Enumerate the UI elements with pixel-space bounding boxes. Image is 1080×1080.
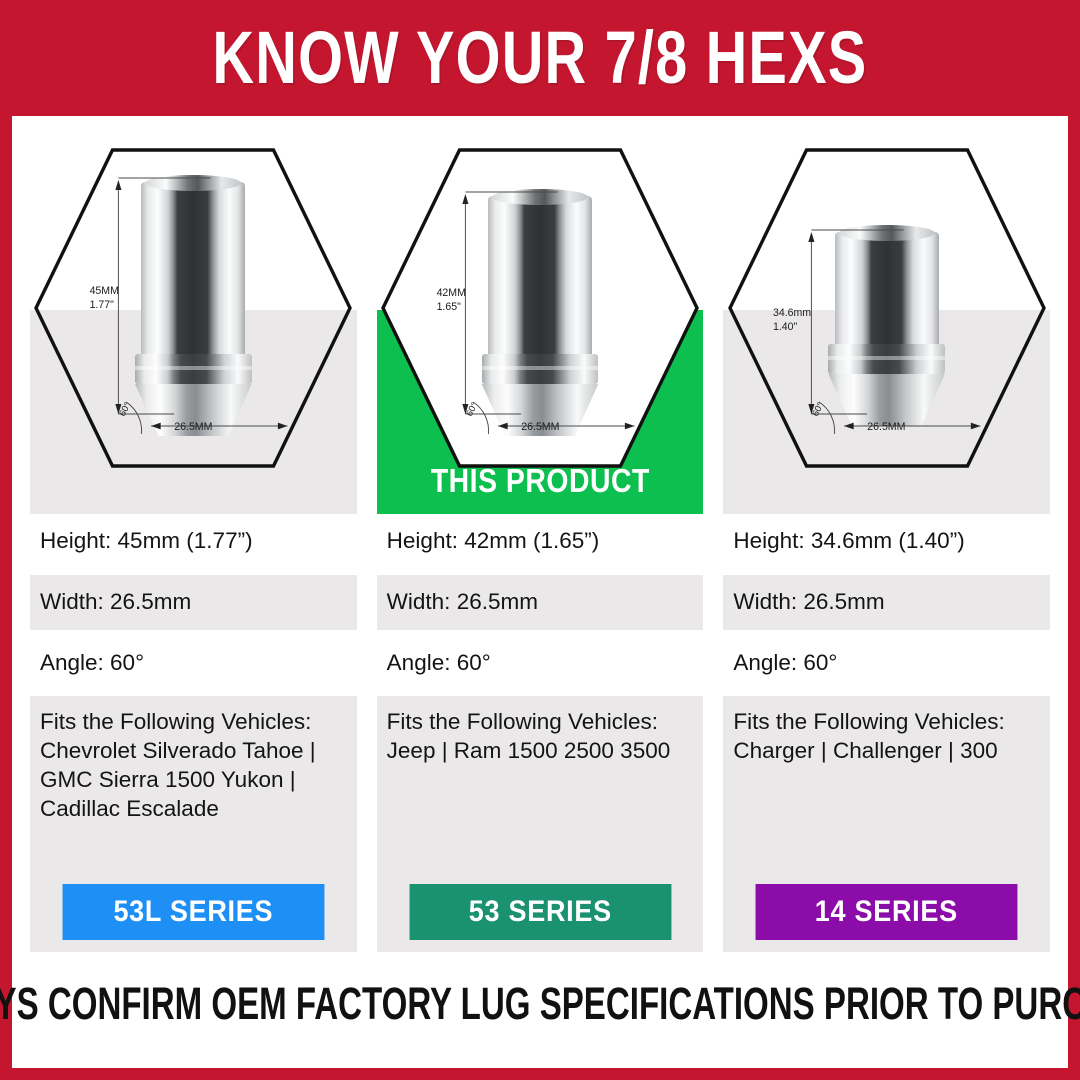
fitment-line: Charger | Challenger | 300: [733, 736, 1040, 765]
disclaimer-note: **ALWAYS CONFIRM OEM FACTORY LUG SPECIFI…: [152, 972, 928, 1036]
spec-angle: Angle: 60°: [377, 636, 704, 691]
nut-shoulder-ring: [482, 354, 598, 384]
spec-height: Height: 42mm (1.65”): [377, 514, 704, 569]
series-badge-53[interactable]: 53 SERIES: [409, 884, 671, 940]
nut-top-face: [145, 175, 241, 191]
hex-diagram-panel-highlighted: 42MM 1.65" 60° 26.5MM THIS PRODUCT: [377, 134, 704, 514]
nut-shoulder-ring: [828, 344, 944, 374]
product-column-14: 34.6mm 1.40" 60° 26.5MM Height: 34.6mm (…: [723, 134, 1050, 952]
spec-angle: Angle: 60°: [30, 636, 357, 691]
fitment-text: Fits the Following Vehicles: Charger | C…: [733, 707, 1040, 765]
hex-diagram-panel: 45MM 1.77" 60° 26.5MM: [30, 134, 357, 514]
product-column-53l: 45MM 1.77" 60° 26.5MM Height: 45mm (1.77…: [30, 134, 357, 952]
fitment-text: Fits the Following Vehicles: Jeep | Ram …: [387, 707, 694, 765]
lug-nut-illustration: [488, 196, 592, 436]
lug-nut-illustration: [141, 182, 245, 436]
spec-width: Width: 26.5mm: [377, 575, 704, 630]
nut-top-face: [839, 225, 935, 241]
content-card: 45MM 1.77" 60° 26.5MM Height: 45mm (1.77…: [12, 116, 1068, 1068]
fitment-heading: Fits the Following Vehicles:: [387, 707, 694, 736]
series-badge-53l[interactable]: 53L SERIES: [63, 884, 325, 940]
series-badge-14[interactable]: 14 SERIES: [756, 884, 1018, 940]
comparison-columns: 45MM 1.77" 60° 26.5MM Height: 45mm (1.77…: [30, 134, 1050, 952]
spec-angle: Angle: 60°: [723, 636, 1050, 691]
nut-top-face: [492, 189, 588, 205]
infographic-root: KNOW YOUR 7/8 HEXS: [0, 0, 1080, 1080]
nut-conical-seat: [828, 374, 944, 426]
lug-nut-illustration: [835, 232, 939, 426]
fitment-heading: Fits the Following Vehicles:: [40, 707, 347, 736]
nut-conical-seat: [135, 384, 251, 436]
page-title: KNOW YOUR 7/8 HEXS: [212, 21, 867, 95]
fitment-text: Fits the Following Vehicles: Chevrolet S…: [40, 707, 347, 823]
nut-conical-seat: [482, 384, 598, 436]
spec-width: Width: 26.5mm: [30, 575, 357, 630]
fitment-heading: Fits the Following Vehicles:: [733, 707, 1040, 736]
fitment-line: Jeep | Ram 1500 2500 3500: [387, 736, 694, 765]
fitment-line: Cadillac Escalade: [40, 794, 347, 823]
spec-height: Height: 34.6mm (1.40”): [723, 514, 1050, 569]
spec-height: Height: 45mm (1.77”): [30, 514, 357, 569]
fitment-block: Fits the Following Vehicles: Jeep | Ram …: [377, 696, 704, 952]
fitment-line: Chevrolet Silverado Tahoe |: [40, 736, 347, 765]
fitment-line: GMC Sierra 1500 Yukon |: [40, 765, 347, 794]
fitment-block: Fits the Following Vehicles: Chevrolet S…: [30, 696, 357, 952]
product-column-53: 42MM 1.65" 60° 26.5MM THIS PRODUCT Heigh…: [377, 134, 704, 952]
this-product-label: THIS PRODUCT: [400, 462, 681, 500]
spec-width: Width: 26.5mm: [723, 575, 1050, 630]
nut-shoulder-ring: [135, 354, 251, 384]
header-banner: KNOW YOUR 7/8 HEXS: [0, 0, 1080, 116]
hex-diagram-panel: 34.6mm 1.40" 60° 26.5MM: [723, 134, 1050, 514]
fitment-block: Fits the Following Vehicles: Charger | C…: [723, 696, 1050, 952]
